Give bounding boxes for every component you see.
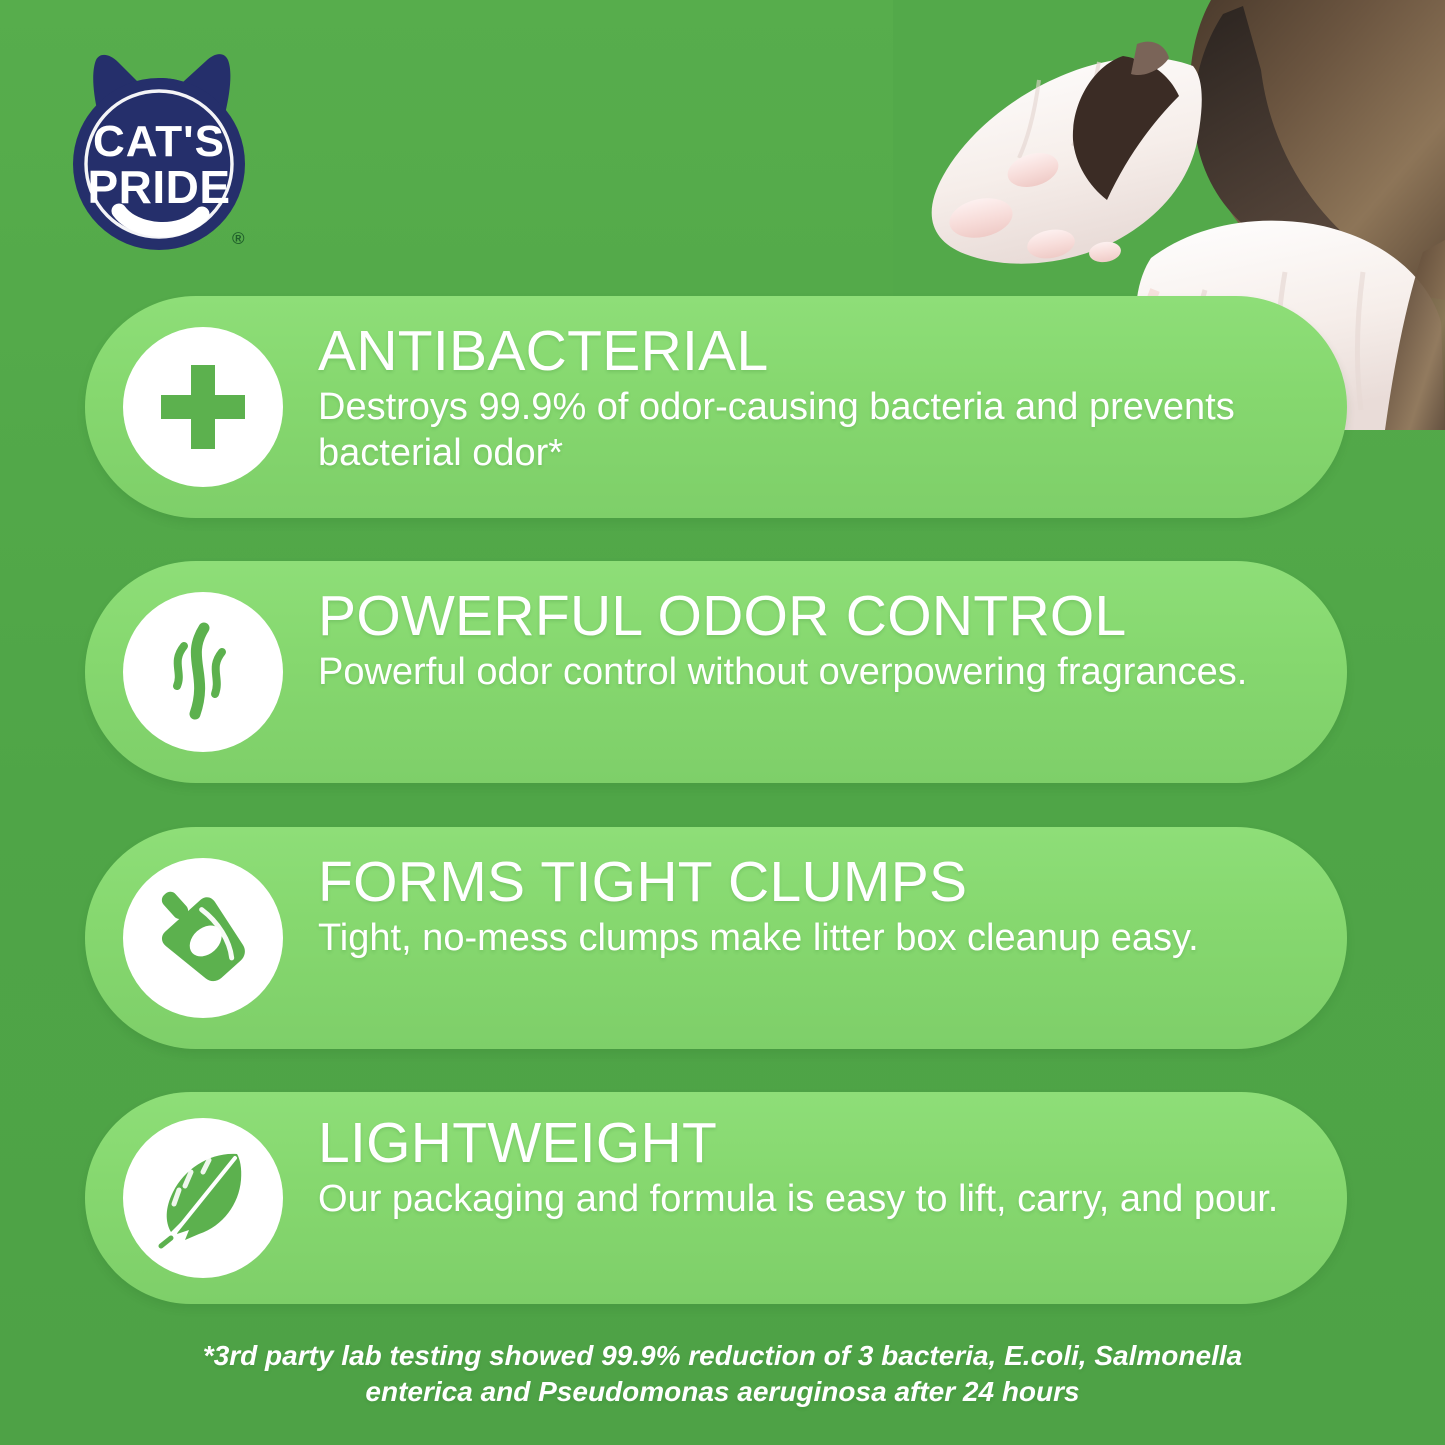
feature-text-block: ANTIBACTERIAL Destroys 99.9% of odor-cau… [318, 322, 1307, 476]
odor-waves-icon [151, 620, 255, 724]
feature-title: ANTIBACTERIAL [318, 322, 1307, 381]
product-feature-infographic: CAT'S PRIDE ® [0, 0, 1445, 1445]
cats-pride-logo: CAT'S PRIDE ® [62, 48, 252, 260]
feature-card-lightweight: LIGHTWEIGHT Our packaging and formula is… [85, 1092, 1347, 1304]
logo-wordmark-cats: CAT'S [93, 117, 225, 166]
svg-text:PRIDE: PRIDE [87, 161, 230, 213]
feature-description: Tight, no-mess clumps make litter box cl… [318, 916, 1307, 962]
feature-text-block: POWERFUL ODOR CONTROL Powerful odor cont… [318, 587, 1307, 696]
feature-description: Our packaging and formula is easy to lif… [318, 1177, 1307, 1223]
svg-text:CAT'S: CAT'S [93, 117, 225, 166]
feature-title: LIGHTWEIGHT [318, 1114, 1307, 1173]
footnote-disclaimer: *3rd party lab testing showed 99.9% redu… [0, 1338, 1445, 1411]
feature-card-odor-control: POWERFUL ODOR CONTROL Powerful odor cont… [85, 561, 1347, 783]
feature-text-block: LIGHTWEIGHT Our packaging and formula is… [318, 1114, 1307, 1223]
footnote-line-1: *3rd party lab testing showed 99.9% redu… [110, 1338, 1335, 1374]
footnote-line-2: enterica and Pseudomonas aeruginosa afte… [110, 1374, 1335, 1410]
logo-wordmark-pride: PRIDE [87, 161, 230, 213]
feather-icon [151, 1146, 255, 1250]
registered-trademark-icon: ® [232, 230, 245, 247]
feature-card-antibacterial: ANTIBACTERIAL Destroys 99.9% of odor-cau… [85, 296, 1347, 518]
litter-scoop-icon-circle [123, 858, 283, 1018]
plus-cross-icon-circle [123, 327, 283, 487]
feature-text-block: FORMS TIGHT CLUMPS Tight, no-mess clumps… [318, 853, 1307, 962]
feature-title: POWERFUL ODOR CONTROL [318, 587, 1307, 646]
odor-waves-icon-circle [123, 592, 283, 752]
feature-description: Powerful odor control without overpoweri… [318, 650, 1307, 696]
feature-title: FORMS TIGHT CLUMPS [318, 853, 1307, 912]
plus-cross-icon [153, 357, 253, 457]
feather-icon-circle [123, 1118, 283, 1278]
feature-card-tight-clumps: FORMS TIGHT CLUMPS Tight, no-mess clumps… [85, 827, 1347, 1049]
feature-description: Destroys 99.9% of odor-causing bacteria … [318, 385, 1307, 476]
litter-scoop-icon [149, 884, 257, 992]
